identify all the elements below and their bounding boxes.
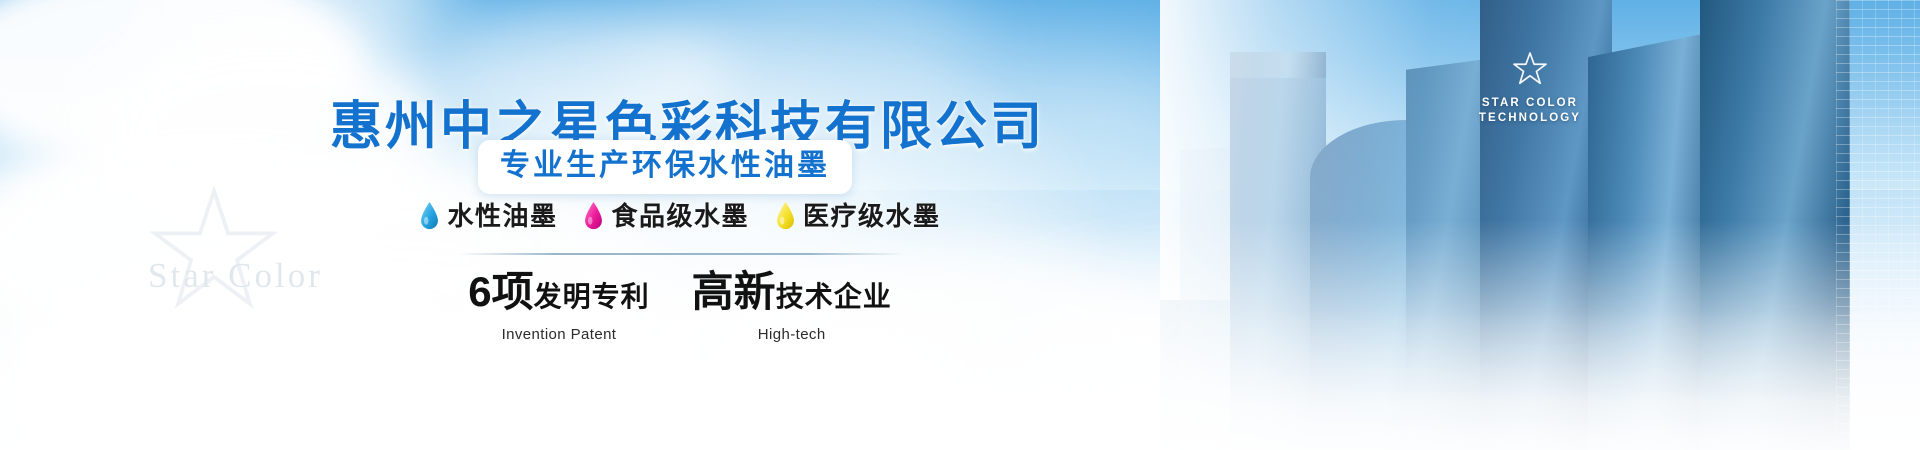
banner-content: 惠州中之星色彩科技有限公司 专业生产环保水性油墨 水性油墨 [330,0,1030,450]
achievement-high-tech: 高新技术企业 High-tech [692,268,892,345]
star-icon [1513,52,1547,86]
product-item-food-grade-ink: 食品级水墨 [583,200,749,232]
achievement-big-text: 6项 [468,268,533,315]
section-divider [458,253,904,255]
company-subtitle-pill: 专业生产环保水性油墨 [478,140,852,194]
achievement-big-text: 高新 [692,268,776,315]
brand-logo: STAR COLOR TECHNOLOGY [1455,52,1605,126]
achievement-main: 高新技术企业 [692,268,892,326]
achievement-english-label: High-tech [692,325,892,345]
product-item-water-based-ink: 水性油墨 [419,200,557,232]
achievement-invention-patent: 6项发明专利 Invention Patent [468,268,649,345]
product-item-medical-grade-ink: 医疗级水墨 [775,200,941,232]
water-drop-icon [419,201,440,231]
achievement-main: 6项发明专利 [468,268,649,326]
logo-line-1: STAR COLOR [1455,96,1605,111]
achievement-list: 6项发明专利 Invention Patent 高新技术企业 High-tech [330,268,1030,345]
achievement-small-text: 发明专利 [534,281,650,312]
water-drop-icon [775,201,796,231]
promotional-banner: Star Color STAR COLOR TECHNOLOGY 惠州中之星色彩… [0,0,1920,450]
logo-line-2: TECHNOLOGY [1455,111,1605,126]
water-drop-icon [583,201,604,231]
achievement-english-label: Invention Patent [468,325,649,345]
achievement-small-text: 技术企业 [776,281,892,312]
product-label: 水性油墨 [447,200,557,232]
product-label: 医疗级水墨 [803,200,941,232]
product-label: 食品级水墨 [611,200,749,232]
product-list: 水性油墨 食品级水墨 [330,200,1030,232]
